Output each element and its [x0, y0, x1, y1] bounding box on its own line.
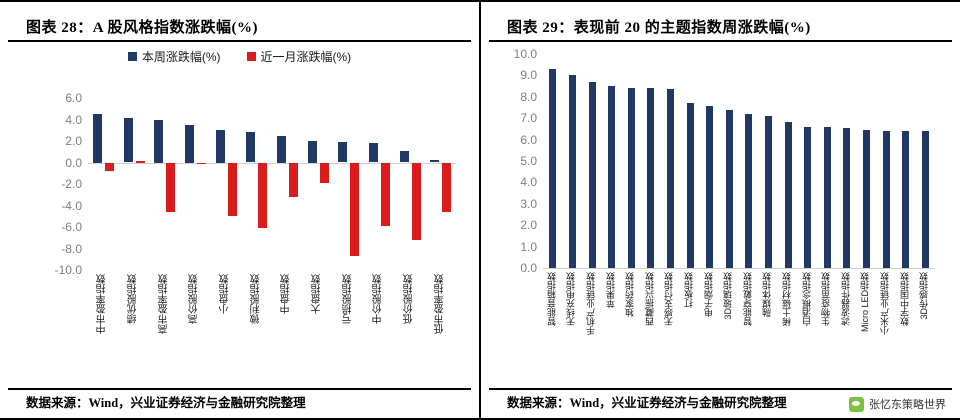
y-axis-tick: 8.0 — [493, 90, 537, 104]
wechat-account: 张忆东策略世界 — [849, 396, 946, 412]
bar — [246, 132, 255, 162]
y-axis-tick: -8.0 — [38, 242, 82, 256]
bar — [706, 106, 713, 268]
legend-swatch-month — [247, 52, 256, 61]
category-label: 西藏振兴指数 — [646, 272, 655, 326]
bar — [726, 110, 733, 268]
category-label: 微利股指数 — [252, 274, 262, 324]
bar — [765, 116, 772, 268]
legend-item-month: 近一月涨跌幅(%) — [247, 48, 352, 65]
bar — [589, 82, 596, 268]
left-source-note: 数据来源：Wind，兴业证券经济与金融研究院整理 — [26, 392, 306, 411]
left-bars-group — [88, 98, 456, 270]
category-label: 手机产业链指数 — [587, 272, 596, 335]
category-label: 中价股指数 — [374, 274, 384, 324]
y-axis-tick: 9.0 — [493, 68, 537, 82]
screenshot-root: 图表 28：A 股风格指数涨跌幅(%) 本周涨跌幅(%) 近一月涨跌幅(%) 6… — [0, 0, 960, 420]
wechat-label: 张忆东策略世界 — [869, 396, 946, 412]
bar — [549, 69, 556, 268]
right-footer-rule — [489, 388, 952, 390]
category-label: 独家药指数 — [626, 272, 635, 317]
y-axis-tick: 4.0 — [493, 175, 537, 189]
category-label: 智能音箱指数 — [548, 272, 557, 326]
y-axis-tick: 2.0 — [38, 134, 82, 148]
category-label: 无线充电指数 — [567, 272, 576, 326]
left-category-labels: 中市盈率指数绩优股指数高市盈率指数高价股指数小盘指数微利股指数中盘指数大盘指数亏… — [88, 274, 456, 374]
legend-item-week: 本周涨跌幅(%) — [128, 48, 221, 65]
category-label: 智能穿戴指数 — [744, 272, 753, 326]
bar — [105, 163, 114, 172]
right-source-note: 数据来源：Wind，兴业证券经济与金融研究院整理 — [507, 392, 787, 411]
y-axis-tick: 3.0 — [493, 197, 537, 211]
y-axis-tick: 1.0 — [493, 240, 537, 254]
right-plot-area: 10.09.08.07.06.05.04.03.02.01.00.0 — [543, 54, 935, 268]
category-label: 数字中国指数 — [901, 272, 910, 326]
y-axis-tick: -4.0 — [38, 199, 82, 213]
bar — [197, 163, 206, 165]
left-plot-area: 6.04.02.00.0-2.0-4.0-6.0-8.0-10.0 — [88, 98, 456, 270]
right-category-labels: 智能音箱指数无线充电指数手机产业链指数苹果指数独家药指数西藏振兴指数无感支付指数… — [543, 272, 935, 376]
category-label: 高价股指数 — [190, 274, 200, 324]
left-title-rule — [8, 40, 471, 42]
bar — [216, 130, 225, 162]
left-chart-legend: 本周涨跌幅(%) 近一月涨跌幅(%) — [0, 48, 479, 65]
category-label: 白酒概念指数 — [803, 272, 812, 326]
bar — [228, 163, 237, 217]
bar — [647, 88, 654, 268]
bar — [93, 114, 102, 162]
right-bars-group — [543, 54, 935, 268]
legend-label-week: 本周涨跌幅(%) — [142, 48, 221, 65]
y-axis-tick: -2.0 — [38, 177, 82, 191]
bar — [804, 127, 811, 268]
bar — [785, 122, 792, 268]
y-axis-tick: 6.0 — [38, 91, 82, 105]
category-label: 3D玻璃指数 — [724, 272, 733, 320]
category-label: 小米产业链指数 — [881, 272, 890, 335]
bar — [843, 128, 850, 268]
y-axis-tick: 6.0 — [493, 133, 537, 147]
right-title-rule — [489, 40, 952, 42]
bar — [124, 118, 133, 162]
left-footer-rule — [8, 388, 471, 390]
category-label: 打板指数 — [685, 272, 694, 308]
category-label: 大盘指数 — [313, 274, 323, 314]
category-label: 绩优股指数 — [129, 274, 139, 324]
wechat-icon — [849, 397, 864, 412]
right-chart-title: 图表 29：表现前 20 的主题指数周涨跌幅(%) — [507, 16, 950, 37]
category-label: 融媒体指数 — [763, 272, 772, 317]
bar — [667, 89, 674, 268]
category-label: 小盘指数 — [221, 274, 231, 314]
bar — [412, 163, 421, 240]
zero-baseline — [543, 268, 935, 269]
left-chart-panel: 图表 28：A 股风格指数涨跌幅(%) 本周涨跌幅(%) 近一月涨跌幅(%) 6… — [0, 2, 479, 418]
bar — [338, 142, 347, 162]
bar — [687, 103, 694, 268]
category-label: 低市盈率指数 — [436, 274, 446, 334]
bar — [628, 88, 635, 268]
category-label: 电子烟指数 — [705, 272, 714, 317]
bar — [369, 143, 378, 162]
category-label: 稀土磁材指数 — [783, 272, 792, 326]
y-axis-tick: 4.0 — [38, 113, 82, 127]
y-axis-tick: 5.0 — [493, 154, 537, 168]
bar — [569, 75, 576, 268]
bar — [863, 130, 870, 268]
bar — [320, 163, 329, 183]
category-label: 无感支付指数 — [665, 272, 674, 326]
bar — [350, 163, 359, 257]
category-label: 亏损股指数 — [344, 274, 354, 324]
bar — [883, 131, 890, 268]
left-chart-title: 图表 28：A 股风格指数涨跌幅(%) — [26, 16, 469, 37]
category-label: 滤波器件指数 — [842, 272, 851, 326]
category-label: 中盘指数 — [282, 274, 292, 314]
bar — [902, 131, 909, 268]
y-axis-tick: 0.0 — [493, 261, 537, 275]
bar — [154, 120, 163, 163]
legend-label-month: 近一月涨跌幅(%) — [261, 48, 352, 65]
category-label: 高市盈率指数 — [160, 274, 170, 334]
bar — [745, 114, 752, 268]
category-label: 低价股指数 — [405, 274, 415, 324]
category-label: 苹果指数 — [607, 272, 616, 308]
right-chart-panel: 图表 29：表现前 20 的主题指数周涨跌幅(%) 10.09.08.07.06… — [481, 2, 960, 418]
bar — [289, 163, 298, 197]
bar — [824, 127, 831, 268]
bar — [185, 125, 194, 163]
legend-swatch-week — [128, 52, 137, 61]
y-axis-tick: 2.0 — [493, 218, 537, 232]
bar — [136, 161, 145, 163]
bar — [277, 136, 286, 163]
bar — [442, 163, 451, 212]
bar — [922, 131, 929, 268]
bar — [400, 151, 409, 163]
bar — [308, 141, 317, 163]
bar — [258, 163, 267, 229]
category-label: Micro LED指数 — [861, 272, 870, 332]
category-label: 3D传感指数 — [920, 272, 929, 320]
y-axis-tick: 0.0 — [38, 156, 82, 170]
bar — [166, 163, 175, 212]
y-axis-tick: -10.0 — [38, 263, 82, 277]
y-axis-tick: 10.0 — [493, 47, 537, 61]
category-label: 生物疫苗指数 — [822, 272, 831, 326]
bar — [381, 163, 390, 226]
y-axis-tick: 7.0 — [493, 111, 537, 125]
y-axis-tick: -6.0 — [38, 220, 82, 234]
category-label: 中市盈率指数 — [98, 274, 108, 334]
bar — [608, 86, 615, 268]
bar — [430, 160, 439, 162]
